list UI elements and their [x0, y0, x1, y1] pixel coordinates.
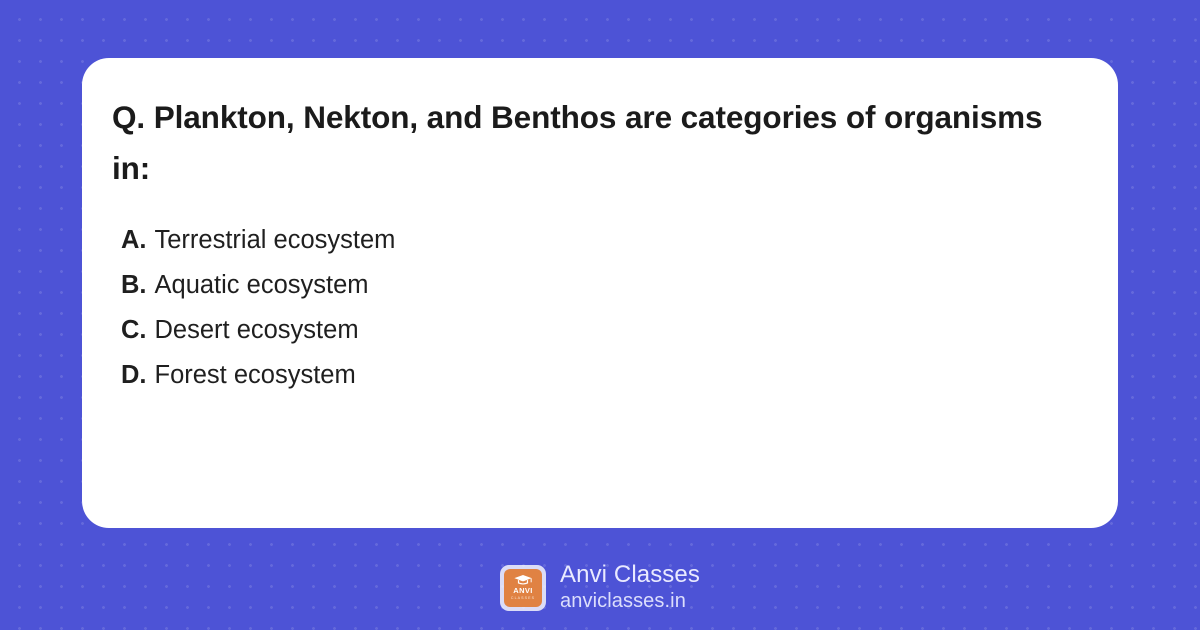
brand-logo-tile: ANVI CLASSES [504, 569, 542, 607]
option-c-letter: C. [121, 308, 147, 353]
brand-text-block: Anvi Classes anviclasses.in [560, 561, 700, 614]
option-d-text: Forest ecosystem [155, 353, 356, 398]
option-a-letter: A. [121, 218, 147, 263]
option-a[interactable]: A. Terrestrial ecosystem [112, 218, 1078, 263]
footer-branding: ANVI CLASSES Anvi Classes anviclasses.in [0, 561, 1200, 614]
brand-logo: ANVI CLASSES [500, 565, 546, 611]
option-b-letter: B. [121, 263, 147, 308]
option-b-text: Aquatic ecosystem [155, 263, 369, 308]
option-c[interactable]: C. Desert ecosystem [112, 308, 1078, 353]
question-card: Q. Plankton, Nekton, and Benthos are cat… [82, 58, 1118, 528]
question-text: Q. Plankton, Nekton, and Benthos are cat… [112, 92, 1052, 194]
option-d[interactable]: D. Forest ecosystem [112, 353, 1078, 398]
brand-logo-name: ANVI [513, 587, 533, 595]
brand-url[interactable]: anviclasses.in [560, 589, 700, 614]
option-a-text: Terrestrial ecosystem [155, 218, 396, 263]
option-d-letter: D. [121, 353, 147, 398]
options-list: A. Terrestrial ecosystem B. Aquatic ecos… [112, 218, 1078, 398]
quiz-card-page: Q. Plankton, Nekton, and Benthos are cat… [0, 0, 1200, 630]
graduation-cap-icon [513, 574, 533, 586]
brand-logo-subtitle: CLASSES [511, 596, 535, 601]
option-c-text: Desert ecosystem [155, 308, 359, 353]
brand-title: Anvi Classes [560, 561, 700, 589]
option-b[interactable]: B. Aquatic ecosystem [112, 263, 1078, 308]
